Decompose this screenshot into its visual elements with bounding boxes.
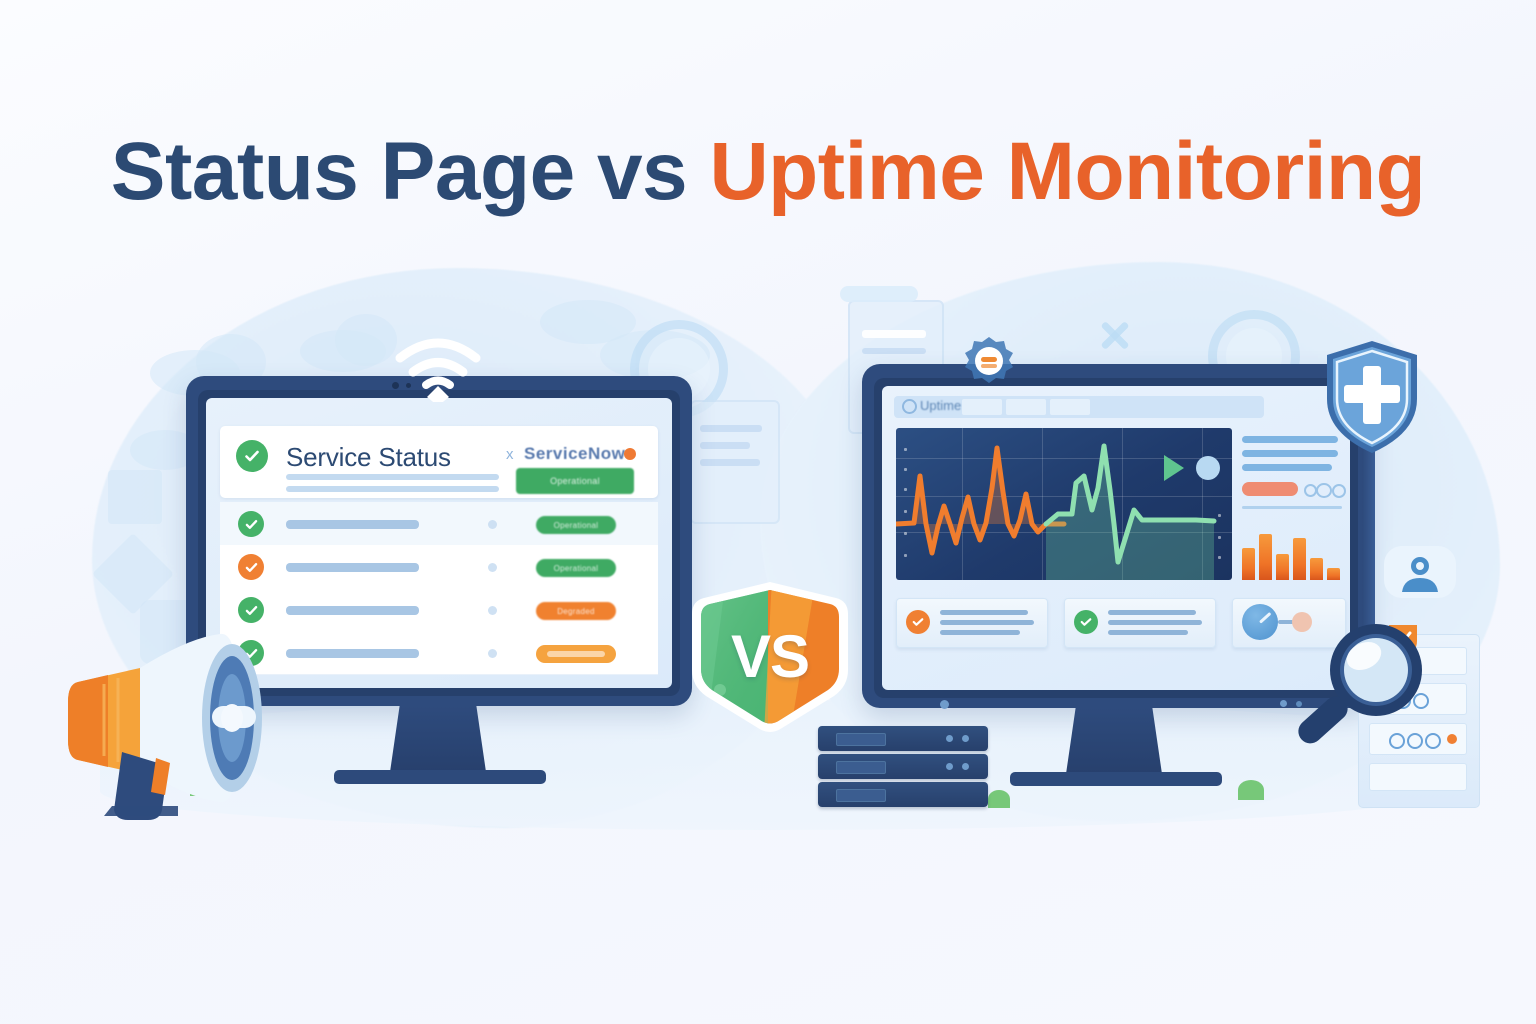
monitor-neck xyxy=(390,706,486,772)
monitor-base xyxy=(1010,772,1222,786)
monitor-base xyxy=(334,770,546,784)
topbar-segment xyxy=(1050,399,1090,415)
server-led xyxy=(946,763,953,770)
grass-decoration xyxy=(988,790,1010,808)
service-row-count xyxy=(488,563,497,572)
chart-indicator-dot xyxy=(1196,456,1220,480)
response-time-chart xyxy=(896,428,1232,580)
title-part-primary: Status Page vs xyxy=(111,126,710,217)
check-glyph xyxy=(243,447,261,465)
header-text-line xyxy=(286,486,499,492)
monitor-led xyxy=(940,700,949,709)
sidebar-bar xyxy=(1242,548,1255,580)
server-bay xyxy=(836,789,886,802)
document-line xyxy=(862,348,926,354)
sidebar-text-line xyxy=(1242,464,1332,471)
sidebar-bar xyxy=(1259,534,1272,580)
server-led xyxy=(962,735,969,742)
logo-accent-dot xyxy=(624,448,636,460)
server-bay xyxy=(836,733,886,746)
server-stack-icon xyxy=(818,726,988,816)
card-text-line xyxy=(1108,620,1202,625)
header-text-line xyxy=(286,474,499,480)
gauge-icon xyxy=(1242,604,1278,640)
grass-decoration xyxy=(1238,780,1264,800)
shield-pole xyxy=(1362,440,1375,640)
document-line xyxy=(840,286,918,302)
topbar-status-dot xyxy=(902,399,917,414)
gauge-needle xyxy=(1259,612,1271,624)
topbar-label: Uptime xyxy=(920,398,961,413)
wifi-icon xyxy=(390,336,486,402)
service-row-pill[interactable] xyxy=(536,645,616,663)
person-gear-icon xyxy=(1382,542,1458,602)
document-line xyxy=(862,330,926,338)
service-row-pill[interactable]: Degraded xyxy=(536,602,616,620)
brand-logo-text: ServiceNow xyxy=(524,444,625,464)
title-part-accent: Uptime Monitoring xyxy=(709,126,1425,217)
page-title: Status Page vs Uptime Monitoring xyxy=(0,124,1536,220)
sidebar-bar xyxy=(1276,554,1289,580)
vs-label: VS xyxy=(686,578,854,734)
service-row-name xyxy=(286,606,419,615)
sidebar-alert-pill[interactable] xyxy=(1242,482,1298,496)
card-text-line xyxy=(940,630,1020,635)
card-text-line xyxy=(940,620,1034,625)
sidebar-bar xyxy=(1310,558,1323,580)
megaphone-icon xyxy=(60,620,340,820)
uptime-dashboard-screen: Uptime xyxy=(882,386,1350,690)
card-status-icon xyxy=(1074,610,1098,634)
card-text-line xyxy=(940,610,1028,615)
rack-row xyxy=(1369,763,1467,791)
service-status-title: Service Status xyxy=(286,442,451,473)
server-bay xyxy=(836,761,886,774)
document-line xyxy=(700,459,760,466)
service-row-status-icon xyxy=(238,511,264,537)
service-row-pill[interactable]: Operational xyxy=(536,516,616,534)
pill-progress xyxy=(547,651,605,657)
shield-cross-icon xyxy=(1322,338,1422,456)
monitor-neck xyxy=(1066,708,1162,774)
sidebar-bar xyxy=(1327,568,1340,580)
server-led xyxy=(962,763,969,770)
service-row-pill[interactable]: Operational xyxy=(536,559,616,577)
sidebar-ring-icon xyxy=(1316,483,1332,498)
logo-prefix: x xyxy=(506,446,514,463)
header-status-icon xyxy=(236,440,268,472)
card-text-line xyxy=(1108,610,1196,615)
settings-badge-icon xyxy=(962,334,1016,388)
magnifier-icon xyxy=(1288,612,1438,762)
sidebar-divider xyxy=(1242,506,1342,509)
series-incident xyxy=(896,448,1064,553)
service-row-count xyxy=(488,520,497,529)
header-status-pill[interactable]: Operational xyxy=(516,468,634,494)
card-text-line xyxy=(1108,630,1188,635)
card-status-icon xyxy=(906,610,930,634)
service-row-count xyxy=(488,606,497,615)
topbar-segment xyxy=(1006,399,1046,415)
sidebar-ring-icon xyxy=(1332,484,1346,498)
illustration-canvas: Service Status x ServiceNow Operational … xyxy=(0,0,1536,1024)
vs-badge: VS xyxy=(686,578,854,734)
monitor-led xyxy=(1280,700,1287,707)
service-row-name xyxy=(286,520,419,529)
topbar-segment xyxy=(962,399,1002,415)
service-row-name xyxy=(286,563,419,572)
play-triangle-icon[interactable] xyxy=(1164,455,1184,481)
chart-waveforms xyxy=(896,428,1232,580)
service-row-count xyxy=(488,649,497,658)
service-row-status-icon xyxy=(238,554,264,580)
sidebar-bar xyxy=(1293,538,1306,580)
document-line xyxy=(700,442,750,449)
rack-alert-dot xyxy=(1447,734,1457,744)
cloud-shape xyxy=(335,314,397,366)
decor-square xyxy=(108,470,162,524)
server-led xyxy=(946,735,953,742)
document-line xyxy=(700,425,762,432)
